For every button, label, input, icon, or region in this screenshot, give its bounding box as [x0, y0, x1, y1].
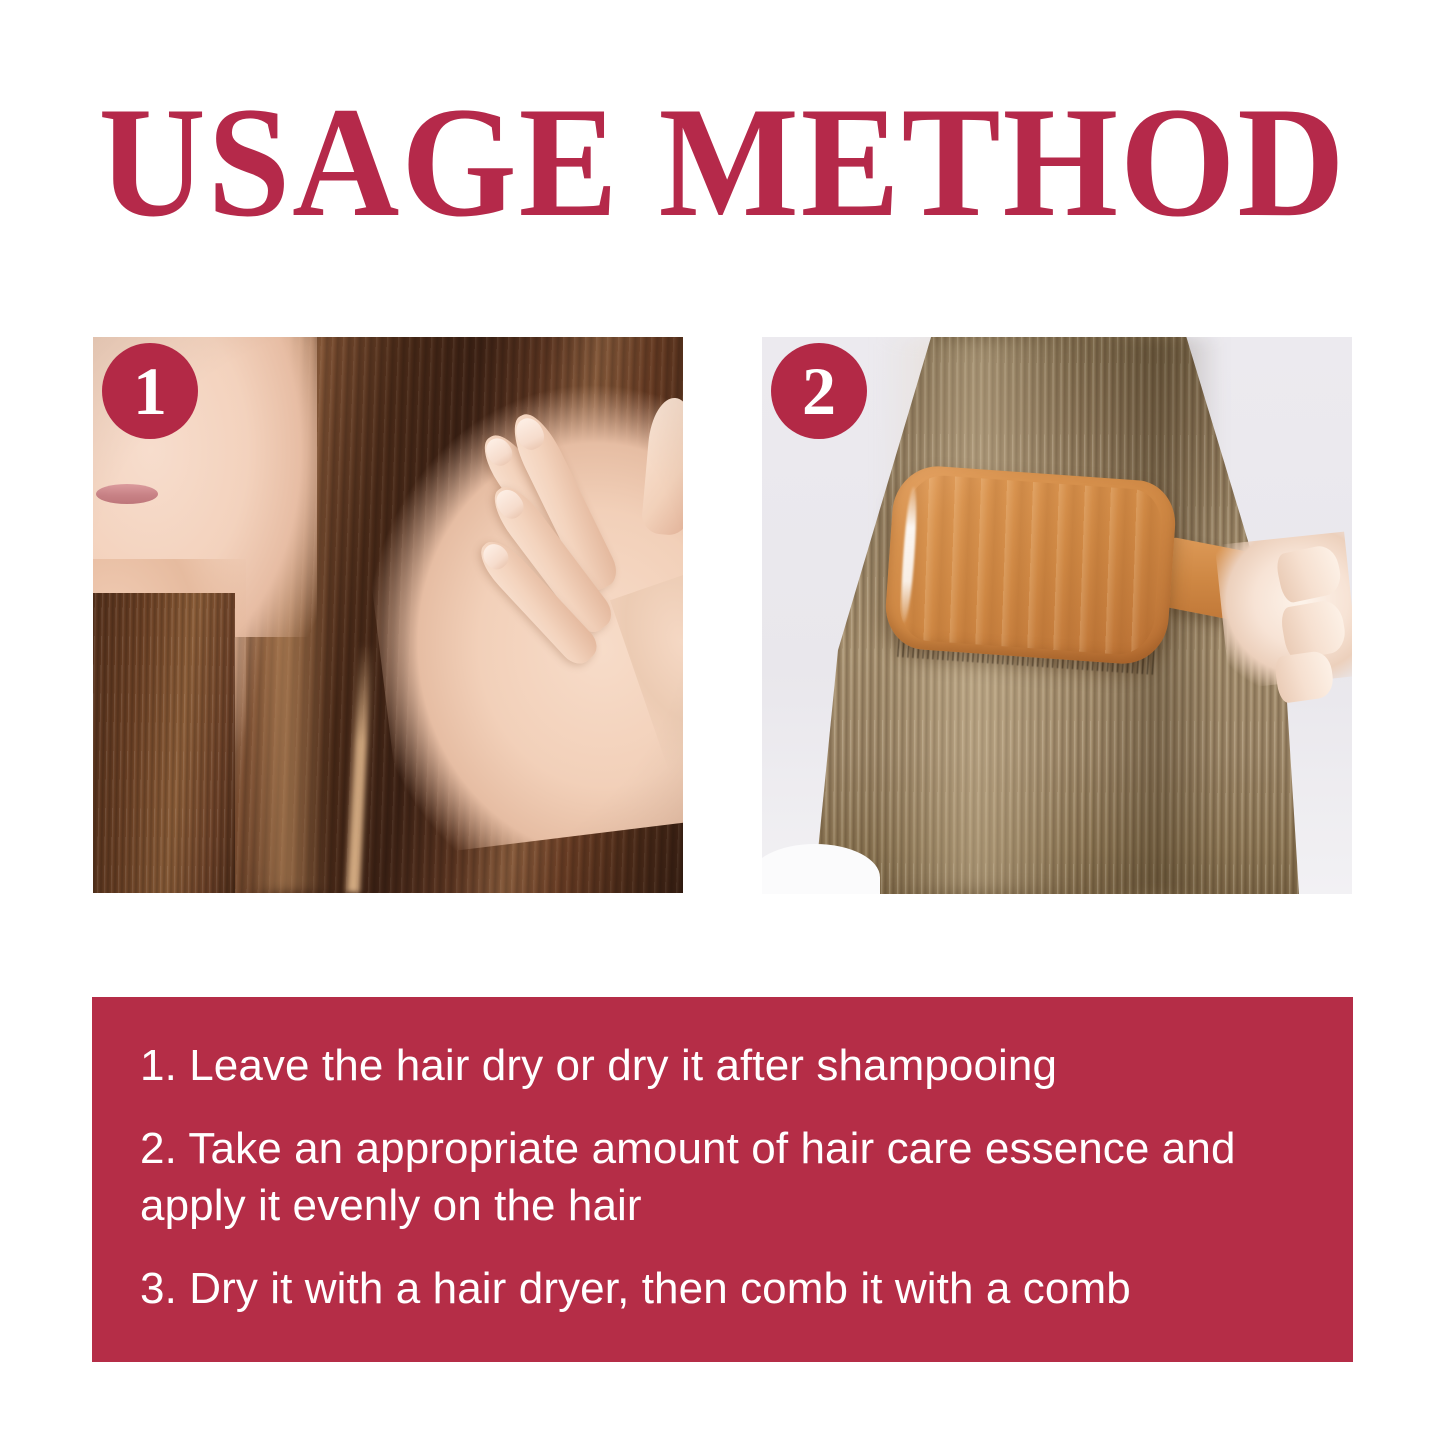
instruction-step-3: 3. Dry it with a hair dryer, then comb i…	[140, 1260, 1303, 1317]
wood-grain	[898, 474, 1164, 657]
instruction-step-2: 2. Take an appropriate amount of hair ca…	[140, 1120, 1303, 1234]
page-title: USAGE METHOD	[43, 88, 1401, 238]
paddle-brush-head	[883, 464, 1178, 667]
instructions-panel: 1. Leave the hair dry or dry it after sh…	[92, 997, 1353, 1362]
instruction-step-1: 1. Leave the hair dry or dry it after sh…	[140, 1037, 1303, 1094]
step-badge-1: 1	[102, 343, 198, 439]
step-badge-2: 2	[771, 343, 867, 439]
